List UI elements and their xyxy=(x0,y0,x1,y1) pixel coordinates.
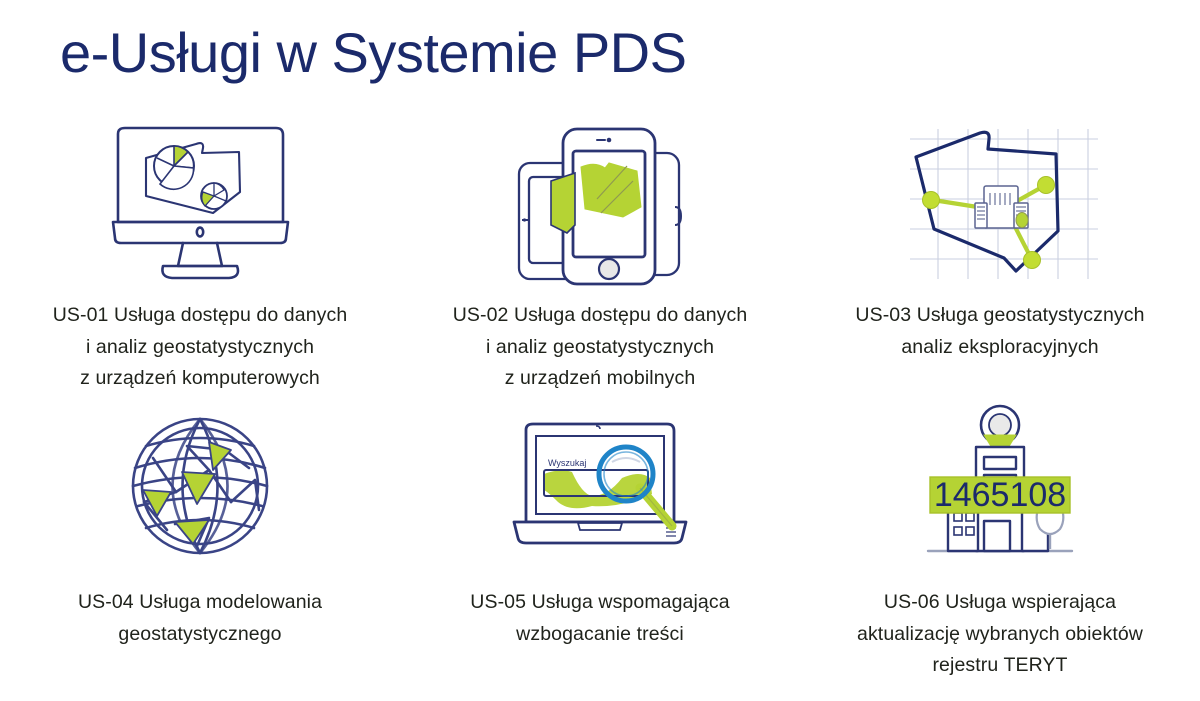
service-card-us-06[interactable]: 1465108 US-06 Usługa wspierająca aktuali… xyxy=(800,398,1200,688)
service-card-us-04[interactable]: US-04 Usługa modelowania geostatystyczne… xyxy=(0,398,400,688)
caption-line: wzbogacanie treści xyxy=(470,619,729,651)
caption-line: i analiz geostatystycznych xyxy=(53,332,348,364)
service-card-us-01[interactable]: US-01 Usługa dostępu do danych i analiz … xyxy=(0,118,400,398)
service-caption-us-01: US-01 Usługa dostępu do danych i analiz … xyxy=(53,300,348,395)
map-network-nodes-icon xyxy=(898,118,1103,288)
search-box-label: Wyszukaj xyxy=(548,458,586,468)
geodesic-globe-icon xyxy=(113,398,288,573)
caption-line: analiz eksploracyjnych xyxy=(855,332,1144,364)
slide-canvas: e-Usługi w Systemie PDS xyxy=(0,0,1200,701)
caption-line: US-05 Usługa wspomagająca xyxy=(470,587,729,619)
service-caption-us-03: US-03 Usługa geostatystycznych analiz ek… xyxy=(855,300,1144,363)
caption-line: US-02 Usługa dostępu do danych xyxy=(453,300,748,332)
service-card-us-05[interactable]: Wyszukaj US-05 Usługa wspomagająca wzbog… xyxy=(400,398,800,688)
caption-line: US-01 Usługa dostępu do danych xyxy=(53,300,348,332)
laptop-search-magnifier-icon: Wyszukaj xyxy=(500,398,700,573)
service-caption-us-05: US-05 Usługa wspomagająca wzbogacanie tr… xyxy=(470,587,729,650)
caption-line: i analiz geostatystycznych xyxy=(453,332,748,364)
services-grid: US-01 Usługa dostępu do danych i analiz … xyxy=(0,118,1200,688)
caption-line: US-06 Usługa wspierająca xyxy=(857,587,1143,619)
caption-line: z urządzeń komputerowych xyxy=(53,363,348,395)
service-card-us-02[interactable]: US-02 Usługa dostępu do danych i analiz … xyxy=(400,118,800,398)
caption-line: rejestru TERYT xyxy=(857,650,1143,682)
caption-line: US-04 Usługa modelowania xyxy=(78,587,322,619)
page-title: e-Usługi w Systemie PDS xyxy=(60,22,686,84)
caption-line: aktualizację wybranych obiektów xyxy=(857,619,1143,651)
mobile-devices-map-icon xyxy=(505,118,695,288)
desktop-monitor-map-piecharts-icon xyxy=(100,118,300,288)
service-card-us-03[interactable]: US-03 Usługa geostatystycznych analiz ek… xyxy=(800,118,1200,398)
caption-line: geostatystycznego xyxy=(78,619,322,651)
service-caption-us-06: US-06 Usługa wspierająca aktualizację wy… xyxy=(857,587,1143,682)
caption-line: US-03 Usługa geostatystycznych xyxy=(855,300,1144,332)
service-caption-us-02: US-02 Usługa dostępu do danych i analiz … xyxy=(453,300,748,395)
register-number: 1465108 xyxy=(934,476,1066,514)
service-caption-us-04: US-04 Usługa modelowania geostatystyczne… xyxy=(78,587,322,650)
caption-line: z urządzeń mobilnych xyxy=(453,363,748,395)
building-register-pin-icon: 1465108 xyxy=(900,398,1100,573)
